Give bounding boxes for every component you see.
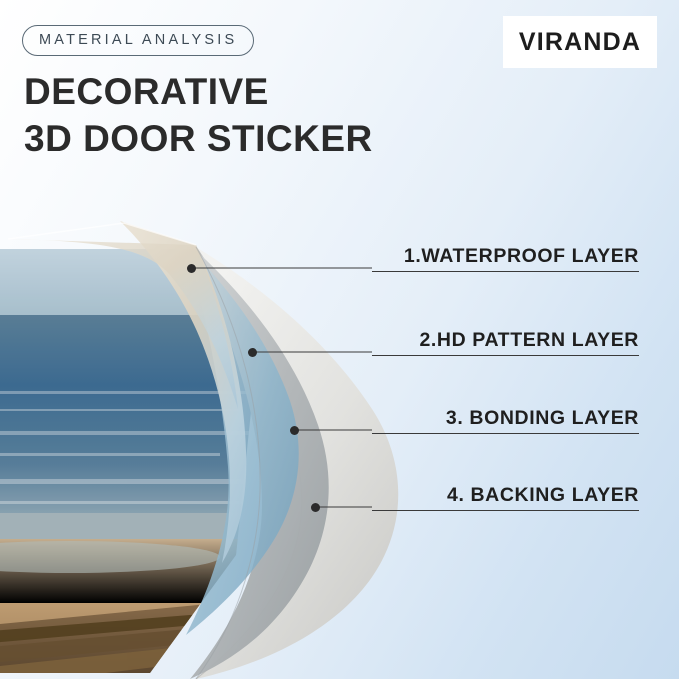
- brand-name: VIRANDA: [519, 28, 641, 57]
- title-line-1: DECORATIVE: [24, 68, 373, 115]
- callout-2-label: 2.HD PATTERN LAYER: [419, 329, 639, 352]
- poster-canvas: MATERIAL ANALYSIS DECORATIVE 3D DOOR STI…: [0, 0, 679, 679]
- callout-1-label: 1.WATERPROOF LAYER: [404, 245, 639, 268]
- callout-dot-3: [290, 426, 299, 435]
- callout-1-rule: [372, 271, 639, 272]
- callout-2: 2.HD PATTERN LAYER: [372, 322, 639, 356]
- callout-4-rule: [372, 510, 639, 511]
- page-title: DECORATIVE 3D DOOR STICKER: [24, 68, 373, 163]
- eyebrow-badge: MATERIAL ANALYSIS: [22, 25, 254, 56]
- callout-3-rule: [372, 433, 639, 434]
- callout-4: 4. BACKING LAYER: [372, 477, 639, 511]
- title-line-2: 3D DOOR STICKER: [24, 115, 373, 162]
- callout-4-label: 4. BACKING LAYER: [447, 484, 639, 507]
- callout-dot-4: [311, 503, 320, 512]
- brand-logo: VIRANDA: [503, 16, 657, 68]
- callout-dot-2: [248, 348, 257, 357]
- callout-3-label: 3. BONDING LAYER: [446, 407, 639, 430]
- callout-dot-1: [187, 264, 196, 273]
- callout-3: 3. BONDING LAYER: [372, 400, 639, 434]
- callout-2-rule: [372, 355, 639, 356]
- callout-1: 1.WATERPROOF LAYER: [372, 238, 639, 272]
